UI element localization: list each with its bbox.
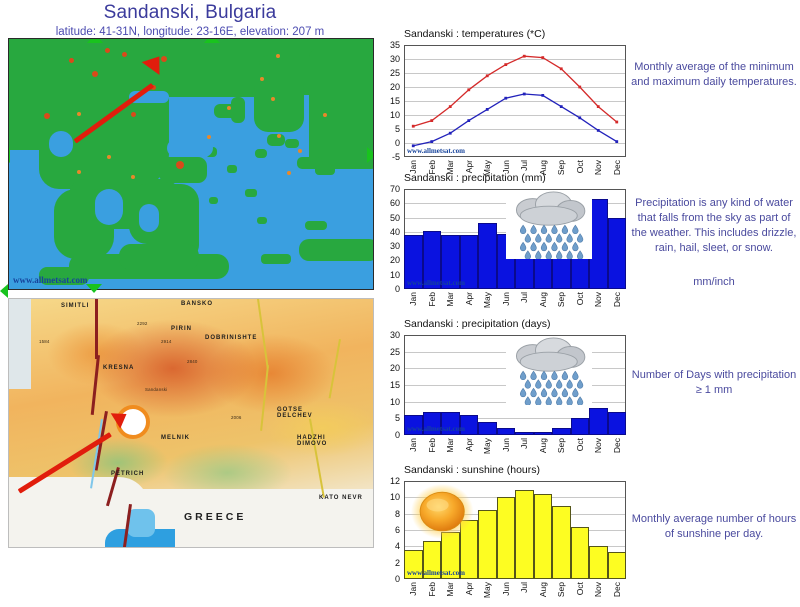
x-axis-tick-Jul: Jul [519, 582, 529, 593]
x-axis-tick-Sep: Sep [556, 292, 566, 307]
bar-Jun [497, 497, 516, 579]
bar-Aug [534, 432, 553, 435]
topo-label-kato-nevrokopi: KATO NEVR [319, 495, 363, 501]
topographic-map[interactable]: SIMITLI BANSKO PIRIN DOBRINISHTE KRESNA … [8, 298, 374, 548]
x-axis-tick-Nov: Nov [593, 438, 603, 453]
y-axis-tick: 20 [378, 255, 400, 265]
caption-sunshine: Monthly average number of hours of sunsh… [630, 512, 798, 542]
bar-May [478, 510, 497, 579]
coordinates-subtitle: latitude: 41-31N, longitude: 23-16E, ele… [0, 26, 380, 38]
bar-Nov [589, 408, 608, 435]
caption-temperatures: Monthly average of the minimum and maxim… [630, 60, 798, 90]
x-axis-tick-Feb: Feb [427, 582, 437, 597]
page-title: Sandanski, Bulgaria [0, 2, 380, 24]
y-axis-tick: 0 [378, 430, 400, 440]
topo-label-gotse-delchev: GOTSEDELCHEV [277, 407, 313, 419]
bar-Jun [497, 428, 516, 435]
marker-top2-icon [204, 38, 220, 43]
y-axis-tick: 2 [378, 558, 400, 568]
y-axis-tick: 40 [378, 227, 400, 237]
x-axis-tick-Nov: Nov [593, 582, 603, 597]
watermark-overview: www.allmetsat.com [13, 275, 87, 285]
watermark-precipitation-days: www.allmetsat.com [407, 425, 465, 433]
y-axis-tick: 70 [378, 184, 400, 194]
chart-precipitation-mm: Sandanski : precipitation (mm) 010203040… [378, 172, 648, 320]
x-axis-tick-Oct: Oct [575, 582, 585, 595]
x-axis-tick-Mar: Mar [445, 292, 455, 307]
chart-title-precipitation-mm: Sandanski : precipitation (mm) [404, 172, 648, 184]
line-series-svg [378, 41, 630, 161]
chart-title-precipitation-days: Sandanski : precipitation (days) [404, 318, 648, 330]
x-axis-tick-Sep: Sep [556, 582, 566, 597]
page-header: Sandanski, Bulgaria latitude: 41-31N, lo… [0, 0, 380, 36]
x-axis-tick-Dec: Dec [612, 438, 622, 453]
x-axis-tick-May: May [482, 438, 492, 454]
y-axis-tick: 0 [378, 284, 400, 294]
topo-label-melnik: MELNIK [161, 435, 190, 441]
topo-label-peak3: 2840 [187, 359, 198, 364]
x-axis-tick-Jun: Jun [501, 438, 511, 452]
bar-Sep [552, 428, 571, 435]
x-axis-tick-Jan: Jan [408, 438, 418, 452]
bar-Dec [608, 218, 627, 289]
chart-title-sunshine: Sandanski : sunshine (hours) [404, 464, 648, 476]
y-axis-tick: 5 [378, 413, 400, 423]
topo-label-kresna: KRESNA [103, 365, 134, 371]
bar-Oct [571, 418, 590, 435]
x-axis-tick-May: May [482, 292, 492, 308]
topo-label-pirin: PIRIN [171, 326, 192, 332]
y-axis-tick: 20 [378, 363, 400, 373]
y-axis-tick: 0 [378, 574, 400, 584]
watermark-temperatures: www.allmetsat.com [407, 147, 465, 155]
x-axis-tick-Jun: Jun [501, 582, 511, 596]
chart-title-temperatures: Sandanski : temperatures (*C) [404, 28, 648, 40]
y-axis-tick: 25 [378, 347, 400, 357]
watermark-precipitation-mm: www.allmetsat.com [407, 279, 465, 287]
x-axis-tick-Sep: Sep [556, 438, 566, 453]
chart-temperatures: Sandanski : temperatures (*C) -505101520… [378, 28, 648, 191]
bar-May [478, 223, 497, 289]
rain-cloud-icon [506, 191, 592, 259]
y-axis-tick: 60 [378, 198, 400, 208]
topo-label-petrich: PETRICH [111, 471, 144, 477]
topo-label-simitli: SIMITLI [61, 303, 89, 309]
topo-label-peak1: 2292 [137, 321, 148, 326]
topo-label-peak5: 2006 [231, 415, 242, 420]
bar-Oct [571, 527, 590, 579]
bar-Nov [589, 546, 608, 579]
y-axis-tick: 30 [378, 241, 400, 251]
x-axis-tick-Jul: Jul [519, 438, 529, 449]
x-axis-tick-Aug: Aug [538, 582, 548, 597]
y-axis-tick: 10 [378, 270, 400, 280]
topo-label-peak4: 1584 [39, 339, 50, 344]
x-axis-tick-Jul: Jul [519, 160, 529, 171]
chart-sunshine: Sandanski : sunshine (hours) 024681012 J… [378, 464, 648, 607]
bar-May [478, 422, 497, 435]
marker-bottomleft-icon [0, 284, 8, 298]
x-axis-tick-Jul: Jul [519, 292, 529, 303]
x-axis-tick-Dec: Dec [612, 292, 622, 307]
y-axis-tick: 10 [378, 492, 400, 502]
x-axis-tick-Feb: Feb [427, 292, 437, 307]
rain-cloud-icon [506, 337, 592, 405]
bar-Aug [534, 494, 553, 579]
marker-left-icon [8, 147, 10, 163]
sun-icon [410, 483, 474, 540]
x-axis-tick-Jun: Jun [501, 292, 511, 306]
x-axis-tick-Apr: Apr [464, 582, 474, 595]
marker-top-icon [87, 38, 103, 43]
overview-map[interactable]: www.allmetsat.com [8, 38, 374, 290]
bar-Sep [552, 257, 571, 289]
x-axis-tick-Jan: Jan [408, 582, 418, 596]
x-axis-tick-Mar: Mar [445, 582, 455, 597]
topo-label-peak2: 2914 [161, 339, 172, 344]
y-axis-tick: 4 [378, 541, 400, 551]
caption-precipitation-unit: mm/inch [630, 275, 798, 290]
bar-Sep [552, 506, 571, 580]
watermark-sunshine: www.allmetsat.com [407, 569, 465, 577]
y-axis-tick: 30 [378, 330, 400, 340]
x-axis-tick-Mar: Mar [445, 438, 455, 453]
x-axis-tick-Aug: Aug [538, 438, 548, 453]
y-axis-tick: 6 [378, 525, 400, 535]
topo-label-dobrinishte: DOBRINISHTE [205, 335, 257, 341]
y-axis-tick: 10 [378, 397, 400, 407]
marker-bottom-icon [86, 284, 102, 293]
caption-precipitation-mm: Precipitation is any kind of water that … [630, 196, 798, 255]
x-axis-tick-Oct: Oct [575, 292, 585, 305]
x-axis-tick-Dec: Dec [612, 582, 622, 597]
bar-Jul [515, 432, 534, 435]
topo-label-sandanski: Sandanski [145, 387, 167, 392]
bar-Dec [608, 412, 627, 435]
y-axis-tick: 50 [378, 213, 400, 223]
y-axis-tick: 12 [378, 476, 400, 486]
x-axis-tick-Jan: Jan [408, 292, 418, 306]
bar-Dec [608, 552, 627, 579]
topo-label-greece: GREECE [184, 511, 246, 523]
topo-label-hadzhi-dimovo: HADZHIDIMOVO [297, 435, 327, 447]
x-axis-tick-Apr: Apr [464, 292, 474, 305]
x-axis-tick-Aug: Aug [538, 292, 548, 307]
chart-precipitation-days: Sandanski : precipitation (days) 0510152… [378, 318, 648, 466]
x-axis-tick-Apr: Apr [464, 438, 474, 451]
topo-label-bansko: BANSKO [181, 301, 213, 307]
marker-right-icon [367, 147, 374, 163]
caption-precipitation-days: Number of Days with precipitation ≥ 1 mm [630, 368, 798, 398]
bar-Jul [515, 490, 534, 579]
y-axis-tick: 15 [378, 380, 400, 390]
x-axis-tick-May: May [482, 582, 492, 598]
bar-Nov [589, 199, 608, 289]
x-axis-tick-Feb: Feb [427, 438, 437, 453]
x-axis-tick-Oct: Oct [575, 438, 585, 451]
x-axis-tick-Nov: Nov [593, 292, 603, 307]
y-axis-tick: 8 [378, 509, 400, 519]
